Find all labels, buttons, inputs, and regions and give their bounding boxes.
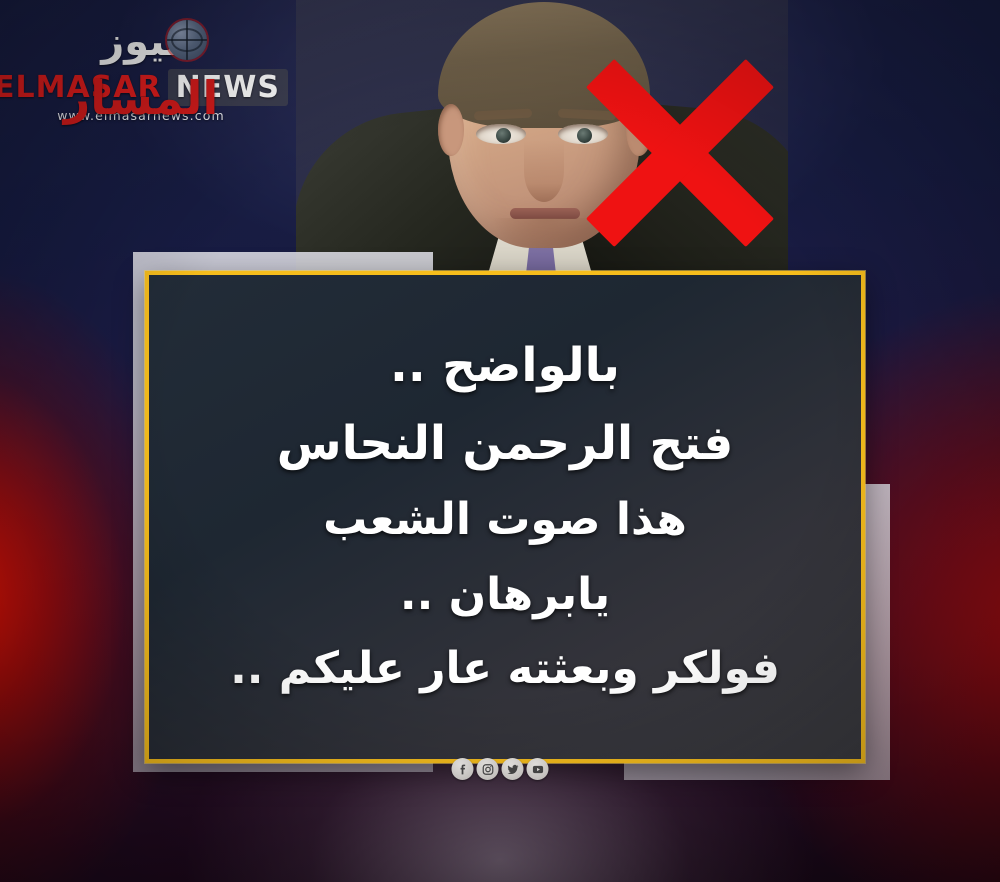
facebook-icon[interactable] bbox=[452, 758, 474, 780]
globe-icon bbox=[167, 20, 207, 60]
youtube-icon[interactable] bbox=[527, 758, 549, 780]
instagram-icon[interactable] bbox=[477, 758, 499, 780]
headline-line-2: فتح الرحمن النحاس bbox=[175, 420, 835, 468]
red-x-cross-icon bbox=[580, 40, 780, 266]
headline-line-3: هذا صوت الشعب bbox=[175, 498, 835, 543]
headline-line-4: يابرهان .. bbox=[175, 573, 835, 618]
social-icon-bar bbox=[452, 758, 549, 780]
brand-logo: نيوز المسار ELMASAR NEWS www.elmasarnews… bbox=[26, 14, 256, 130]
nose bbox=[524, 140, 564, 202]
left-pupil bbox=[496, 128, 511, 143]
headline-card: بالواضح .. فتح الرحمن النحاس هذا صوت الش… bbox=[145, 271, 865, 763]
brand-arabic-wordmark: نيوز المسار bbox=[26, 14, 256, 70]
news-graphic-canvas: نيوز المسار ELMASAR NEWS www.elmasarnews… bbox=[0, 0, 1000, 882]
headline-line-5: فولكر وبعثته عار عليكم .. bbox=[175, 647, 835, 692]
headline-line-1: بالواضح .. bbox=[175, 342, 835, 390]
brand-arabic-red: المسار bbox=[64, 71, 218, 125]
left-ear bbox=[438, 104, 464, 156]
twitter-icon[interactable] bbox=[502, 758, 524, 780]
